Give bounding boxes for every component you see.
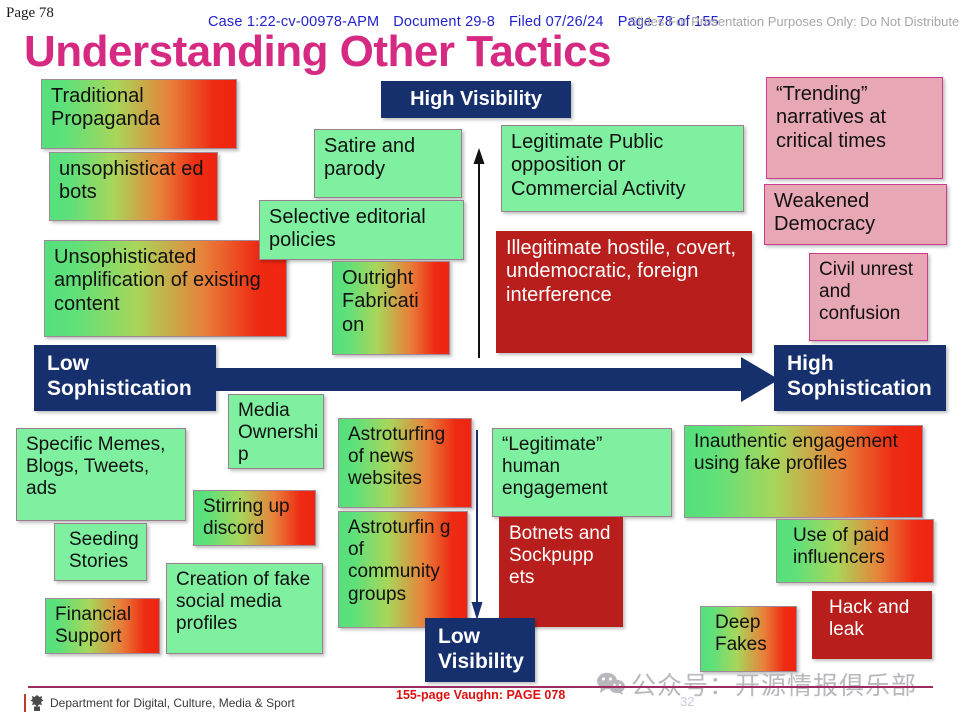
axis-label-high-sophistication: High Sophistication: [774, 345, 946, 411]
box-outright-fabrication: Outright Fabricati on: [332, 261, 450, 355]
box-botnets-sockpuppets: Botnets and Sockpupp ets: [499, 517, 623, 627]
low-soph-line-1: Low: [47, 352, 215, 377]
wechat-watermark-icon: [596, 671, 626, 695]
box-media-ownership: Media Ownershi p: [228, 394, 324, 469]
visibility-axis-arrow-down-icon: [466, 430, 488, 620]
box-hack-and-leak: Hack and leak: [812, 591, 932, 659]
slide-number: 32: [680, 694, 694, 709]
axis-label-low-visibility: Low Visibility: [425, 618, 535, 682]
footer-accent-bar: [24, 694, 26, 712]
wechat-watermark-text: 公众号：开源情报俱乐部: [631, 666, 917, 702]
confidentiality-notice: Slides For Presentation Purposes Only: D…: [629, 14, 959, 29]
box-unsophisticated-amplification: Unsophisticated amplification of existin…: [44, 240, 287, 337]
low-soph-line-2: Sophistication: [47, 377, 215, 402]
slide-canvas: Page 78 Case 1:22-cv-00978-APMDocument 2…: [0, 0, 965, 721]
box-illegitimate-hostile: Illegitimate hostile, covert, undemocrat…: [496, 231, 752, 353]
box-seeding-stories: Seeding Stories: [54, 523, 147, 581]
page-title: Understanding Other Tactics: [24, 27, 611, 77]
box-civil-unrest: Civil unrest and confusion: [809, 253, 928, 341]
box-legitimate-public-opposition: Legitimate Public opposition or Commerci…: [501, 125, 744, 212]
axis-label-low-sophistication: Low Sophistication: [34, 345, 216, 411]
box-astroturfing-news: Astroturfing of news websites: [338, 418, 472, 508]
box-paid-influencers: Use of paid influencers: [776, 519, 934, 583]
high-soph-line-2: Sophistication: [787, 377, 945, 402]
high-soph-line-1: High: [787, 352, 945, 377]
low-visibility-line-1: Low: [438, 625, 534, 650]
box-financial-support: Financial Support: [45, 598, 160, 654]
visibility-axis-arrow-up-icon: [468, 148, 490, 360]
low-visibility-line-2: Visibility: [438, 650, 534, 675]
department-label: Department for Digital, Culture, Media &…: [50, 696, 295, 710]
box-unsophisticated-bots: unsophisticat ed bots: [49, 152, 218, 221]
royal-crest-icon: [29, 694, 45, 712]
axis-label-high-visibility: High Visibility: [381, 81, 571, 118]
box-astroturfing-community: Astroturfin g of community groups: [338, 511, 468, 628]
box-trending-narratives: “Trending” narratives at critical times: [766, 77, 943, 179]
box-stirring-up-discord: Stirring up discord: [193, 490, 316, 546]
box-specific-memes: Specific Memes, Blogs, Tweets, ads: [16, 428, 186, 521]
box-selective-editorial-policies: Selective editorial policies: [259, 200, 464, 260]
box-weakened-democracy: Weakened Democracy: [764, 184, 947, 245]
pdf-page-label: Page 78: [6, 5, 54, 22]
box-deep-fakes: Deep Fakes: [700, 606, 797, 672]
box-inauthentic-engagement: Inauthentic engagement using fake profil…: [684, 425, 923, 518]
box-satire-and-parody: Satire and parody: [314, 129, 462, 198]
vaughn-index-stamp: 155-page Vaughn: PAGE 078: [396, 688, 565, 702]
box-traditional-propaganda: Traditional Propaganda: [41, 79, 237, 149]
box-legitimate-human-engagement: “Legitimate” human engagement: [492, 428, 672, 517]
box-creation-fake-profiles: Creation of fake social media profiles: [166, 563, 323, 654]
